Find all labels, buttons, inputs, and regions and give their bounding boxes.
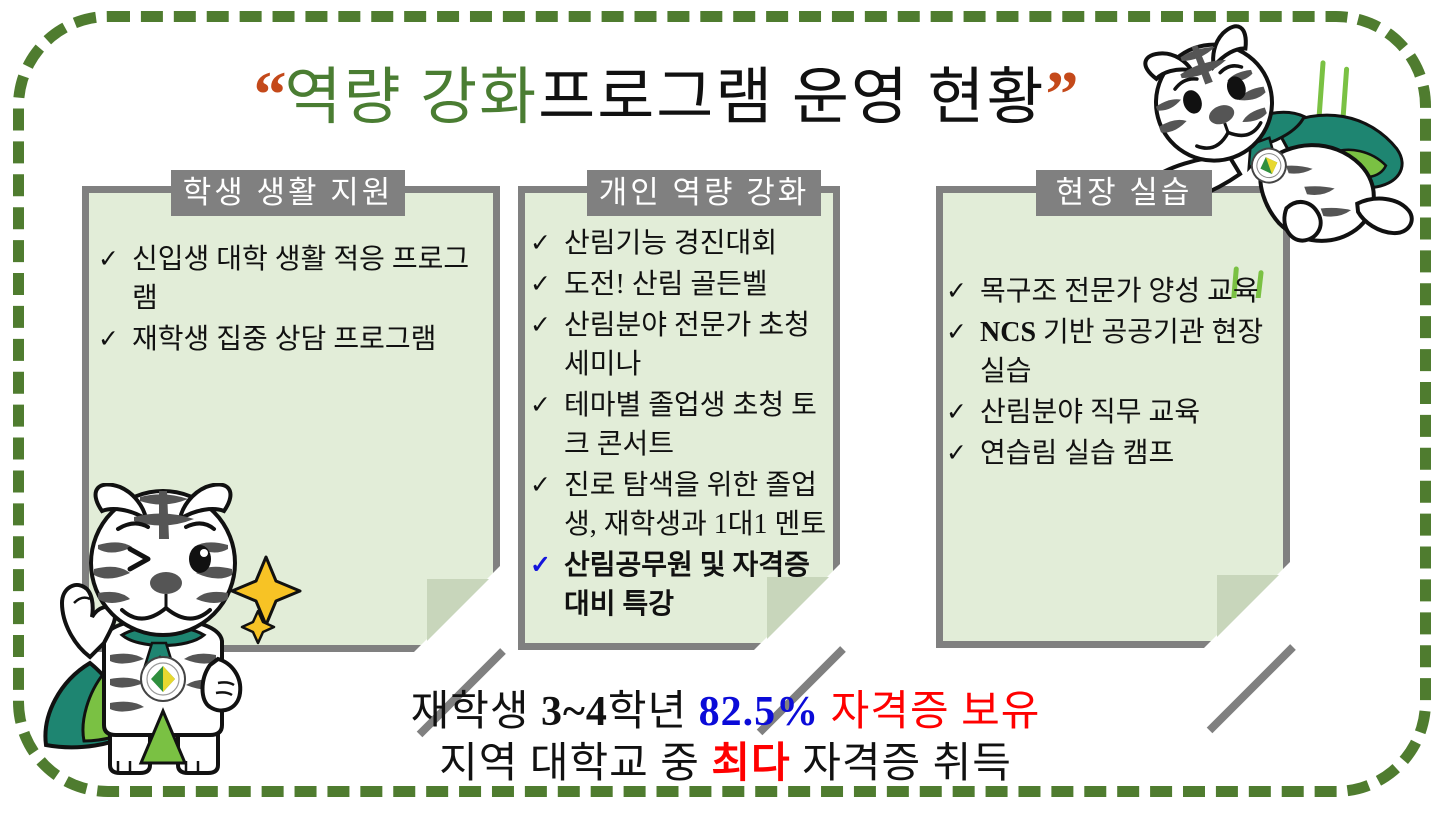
- check-icon: ✓: [946, 313, 980, 352]
- bullet-list-student-life-support: ✓ 신입생 대학 생활 적응 프로그램 ✓ 재학생 집중 상담 프로그램: [98, 240, 490, 359]
- card-body-student-life-support: ✓ 신입생 대학 생활 적응 프로그램 ✓ 재학생 집중 상담 프로그램: [98, 240, 490, 361]
- title-rest: 프로그램 운영 현황: [538, 64, 1045, 132]
- standing-tiger-mascot: [18, 483, 308, 793]
- card-header-student-life-support: 학생 생활 지원: [171, 170, 405, 216]
- check-icon: ✓: [530, 386, 564, 425]
- card-fold-triangle: [1217, 575, 1279, 637]
- card-fold-triangle: [427, 579, 489, 641]
- list-item: ✓ 진로 탐색을 위한 졸업생, 재학생과 1대1 멘토: [530, 466, 836, 544]
- card-body-field-practice: ✓ 목구조 전문가 양성 교육 ✓ NCS 기반 공공기관 현장 실습 ✓ 산림…: [946, 272, 1286, 475]
- list-item: ✓ 신입생 대학 생활 적응 프로그램: [98, 240, 490, 318]
- flying-tiger-mascot: [1138, 8, 1438, 303]
- list-item-highlighted: ✓ 산림공무원 및 자격증 대비 특강: [530, 546, 836, 624]
- check-icon: ✓: [98, 240, 132, 279]
- list-item-label: 진로 탐색을 위한 졸업생, 재학생과 1대1 멘토: [564, 466, 836, 544]
- list-item-label: 산림기능 경진대회: [564, 224, 836, 263]
- text-segment: 자격증 취득: [791, 741, 1012, 787]
- open-quote-mark: “: [254, 59, 285, 132]
- card-body-personal-competency: ✓ 산림기능 경진대회 ✓ 도전! 산림 골든벨 ✓ 산림분야 전문가 초청 세…: [530, 224, 836, 626]
- bullet-list-field-practice: ✓ 목구조 전문가 양성 교육 ✓ NCS 기반 공공기관 현장 실습 ✓ 산림…: [946, 272, 1286, 473]
- check-icon: ✓: [946, 393, 980, 432]
- list-item-label: 도전! 산림 골든벨: [564, 265, 836, 304]
- list-item-label: 재학생 집중 상담 프로그램: [132, 320, 490, 359]
- list-item: ✓ 재학생 집중 상담 프로그램: [98, 320, 490, 359]
- list-item: ✓ 산림분야 전문가 초청 세미나: [530, 306, 836, 384]
- check-icon: ✓: [530, 265, 564, 304]
- list-item-label: 테마별 졸업생 초청 토크 콘서트: [564, 386, 836, 464]
- list-item-label: 산림공무원 및 자격증 대비 특강: [564, 546, 836, 624]
- text-segment: 재학생: [411, 689, 541, 735]
- blue-segment: 82.5%: [699, 689, 820, 735]
- check-icon: ✓: [98, 320, 132, 359]
- check-icon: ✓: [530, 306, 564, 345]
- ncs-bold-segment: NCS: [980, 317, 1036, 348]
- text-segment: [819, 689, 831, 735]
- check-icon: ✓: [530, 546, 564, 585]
- list-item-label-ncs: NCS 기반 공공기관 현장 실습: [980, 313, 1286, 391]
- bullet-list-personal-competency: ✓ 산림기능 경진대회 ✓ 도전! 산림 골든벨 ✓ 산림분야 전문가 초청 세…: [530, 224, 836, 624]
- list-item: ✓ NCS 기반 공공기관 현장 실습: [946, 313, 1286, 391]
- list-item-label: 산림분야 전문가 초청 세미나: [564, 306, 836, 384]
- list-item-label: 연습림 실습 캠프: [980, 434, 1286, 473]
- list-item: ✓ 목구조 전문가 양성 교육: [946, 272, 1286, 311]
- check-icon: ✓: [530, 224, 564, 263]
- presentation-slide: “역량 강화프로그램 운영 현황” 학생 생활 지원 ✓ 신입생 대학 생활 적…: [0, 0, 1451, 814]
- close-quote-mark: ”: [1046, 59, 1077, 132]
- page-title: “역량 강화프로그램 운영 현황”: [0, 46, 1330, 136]
- title-highlight: 역량 강화: [285, 64, 539, 132]
- card-header-field-practice: 현장 실습: [1036, 170, 1212, 216]
- list-item: ✓ 도전! 산림 골든벨: [530, 265, 836, 304]
- text-segment: 지역 대학교 중: [439, 741, 711, 787]
- check-icon: ✓: [530, 466, 564, 505]
- check-icon: ✓: [946, 272, 980, 311]
- list-item: ✓ 연습림 실습 캠프: [946, 434, 1286, 473]
- bold-segment: 3~4: [541, 689, 608, 735]
- card-header-personal-competency: 개인 역량 강화: [587, 170, 821, 216]
- sparkle-icon: [232, 557, 300, 643]
- list-item-label: 신입생 대학 생활 적응 프로그램: [132, 240, 490, 318]
- list-item: ✓ 산림분야 직무 교육: [946, 393, 1286, 432]
- list-item-label: 산림분야 직무 교육: [980, 393, 1286, 432]
- list-item: ✓ 산림기능 경진대회: [530, 224, 836, 263]
- list-item: ✓ 테마별 졸업생 초청 토크 콘서트: [530, 386, 836, 464]
- list-item-label: 목구조 전문가 양성 교육: [980, 272, 1286, 311]
- red-segment: 자격증 보유: [831, 689, 1041, 735]
- text-segment: 학년: [608, 689, 699, 735]
- red-bold-segment: 최다: [711, 741, 790, 787]
- check-icon: ✓: [946, 434, 980, 473]
